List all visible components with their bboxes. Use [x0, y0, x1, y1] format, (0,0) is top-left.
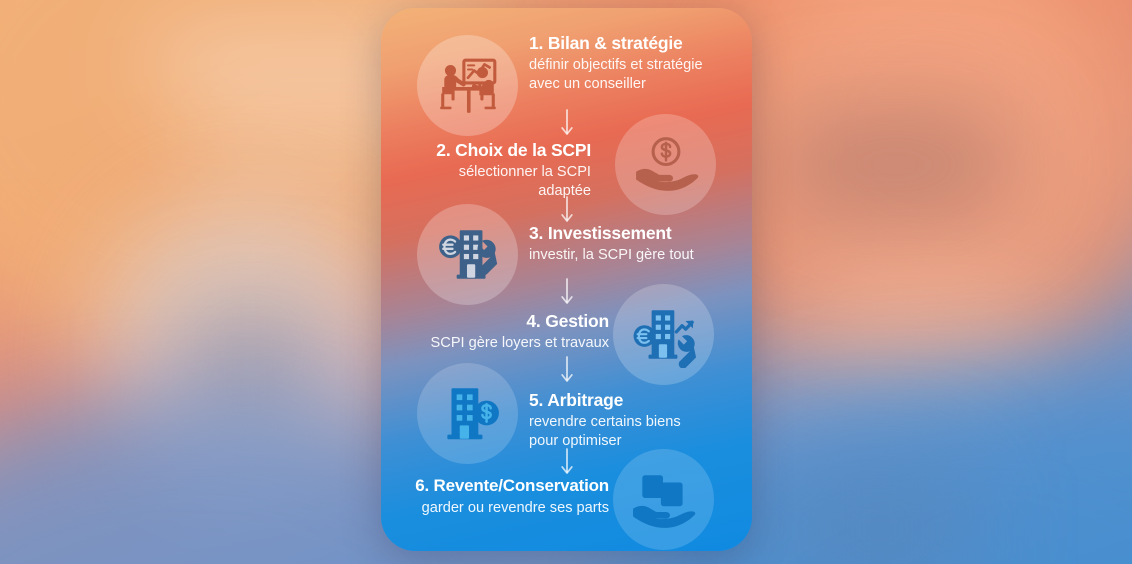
arrow-step2-to-step3 [559, 196, 575, 226]
step-3-subtitle-line-1: investir, la SCPI gère tout [529, 246, 734, 264]
step-3-icon-badge [417, 204, 518, 305]
background-blur-ghost-square-bottom [790, 460, 970, 564]
step-3-text: 3. Investissement investir, la SCPI gère… [529, 223, 734, 265]
step-1-subtitle-line-2: avec un conseiller [529, 75, 734, 93]
step-3-title: 3. Investissement [529, 223, 734, 243]
background-blur-hand-shape [770, 110, 1020, 220]
step-5-icon-badge [417, 363, 518, 464]
step-6-text: 6. Revente/Conservation garder ou revend… [391, 476, 609, 517]
arrow-step4-to-step5 [559, 356, 575, 386]
step-4-subtitle-line-1: SCPI gère loyers et travaux [401, 334, 609, 352]
step-2-subtitle-line-1: sélectionner la SCPI [403, 163, 591, 181]
hand-holding-coin-icon [633, 132, 699, 198]
arrow-step5-to-step6 [559, 448, 575, 478]
arrow-step3-to-step4 [559, 278, 575, 308]
meeting-consultation-icon [435, 53, 501, 119]
step-1-title: 1. Bilan & stratégie [529, 33, 734, 53]
step-5-title: 5. Arbitrage [529, 390, 734, 410]
step-6-title: 6. Revente/Conservation [391, 476, 609, 496]
building-dollar-icon [435, 381, 501, 447]
step-4-text: 4. Gestion SCPI gère loyers et travaux [401, 311, 609, 353]
building-euro-growth-wrench-icon [631, 302, 697, 368]
arrow-step1-to-step2 [559, 109, 575, 139]
step-6-subtitle-line-1: garder ou revendre ses parts [391, 499, 609, 517]
step-5-subtitle-line-1: revendre certains biens [529, 413, 734, 431]
step-1-text: 1. Bilan & stratégie définir objectifs e… [529, 33, 734, 93]
step-6-icon-badge [613, 449, 714, 550]
scpi-process-infographic-card: 1. Bilan & stratégie définir objectifs e… [381, 8, 752, 551]
step-4-title: 4. Gestion [401, 311, 609, 331]
step-2-title: 2. Choix de la SCPI [403, 140, 591, 160]
step-4-icon-badge [613, 284, 714, 385]
step-5-text: 5. Arbitrage revendre certains biens pou… [529, 390, 734, 450]
step-2-icon-badge [615, 114, 716, 215]
hand-holding-shares-icon [631, 467, 697, 533]
building-euro-wrench-icon [435, 222, 501, 288]
step-1-icon-badge [417, 35, 518, 136]
background-blur-ghost-band-right [790, 300, 1050, 360]
step-1-subtitle-line-1: définir objectifs et stratégie [529, 56, 734, 74]
step-2-text: 2. Choix de la SCPI sélectionner la SCPI… [403, 140, 591, 200]
